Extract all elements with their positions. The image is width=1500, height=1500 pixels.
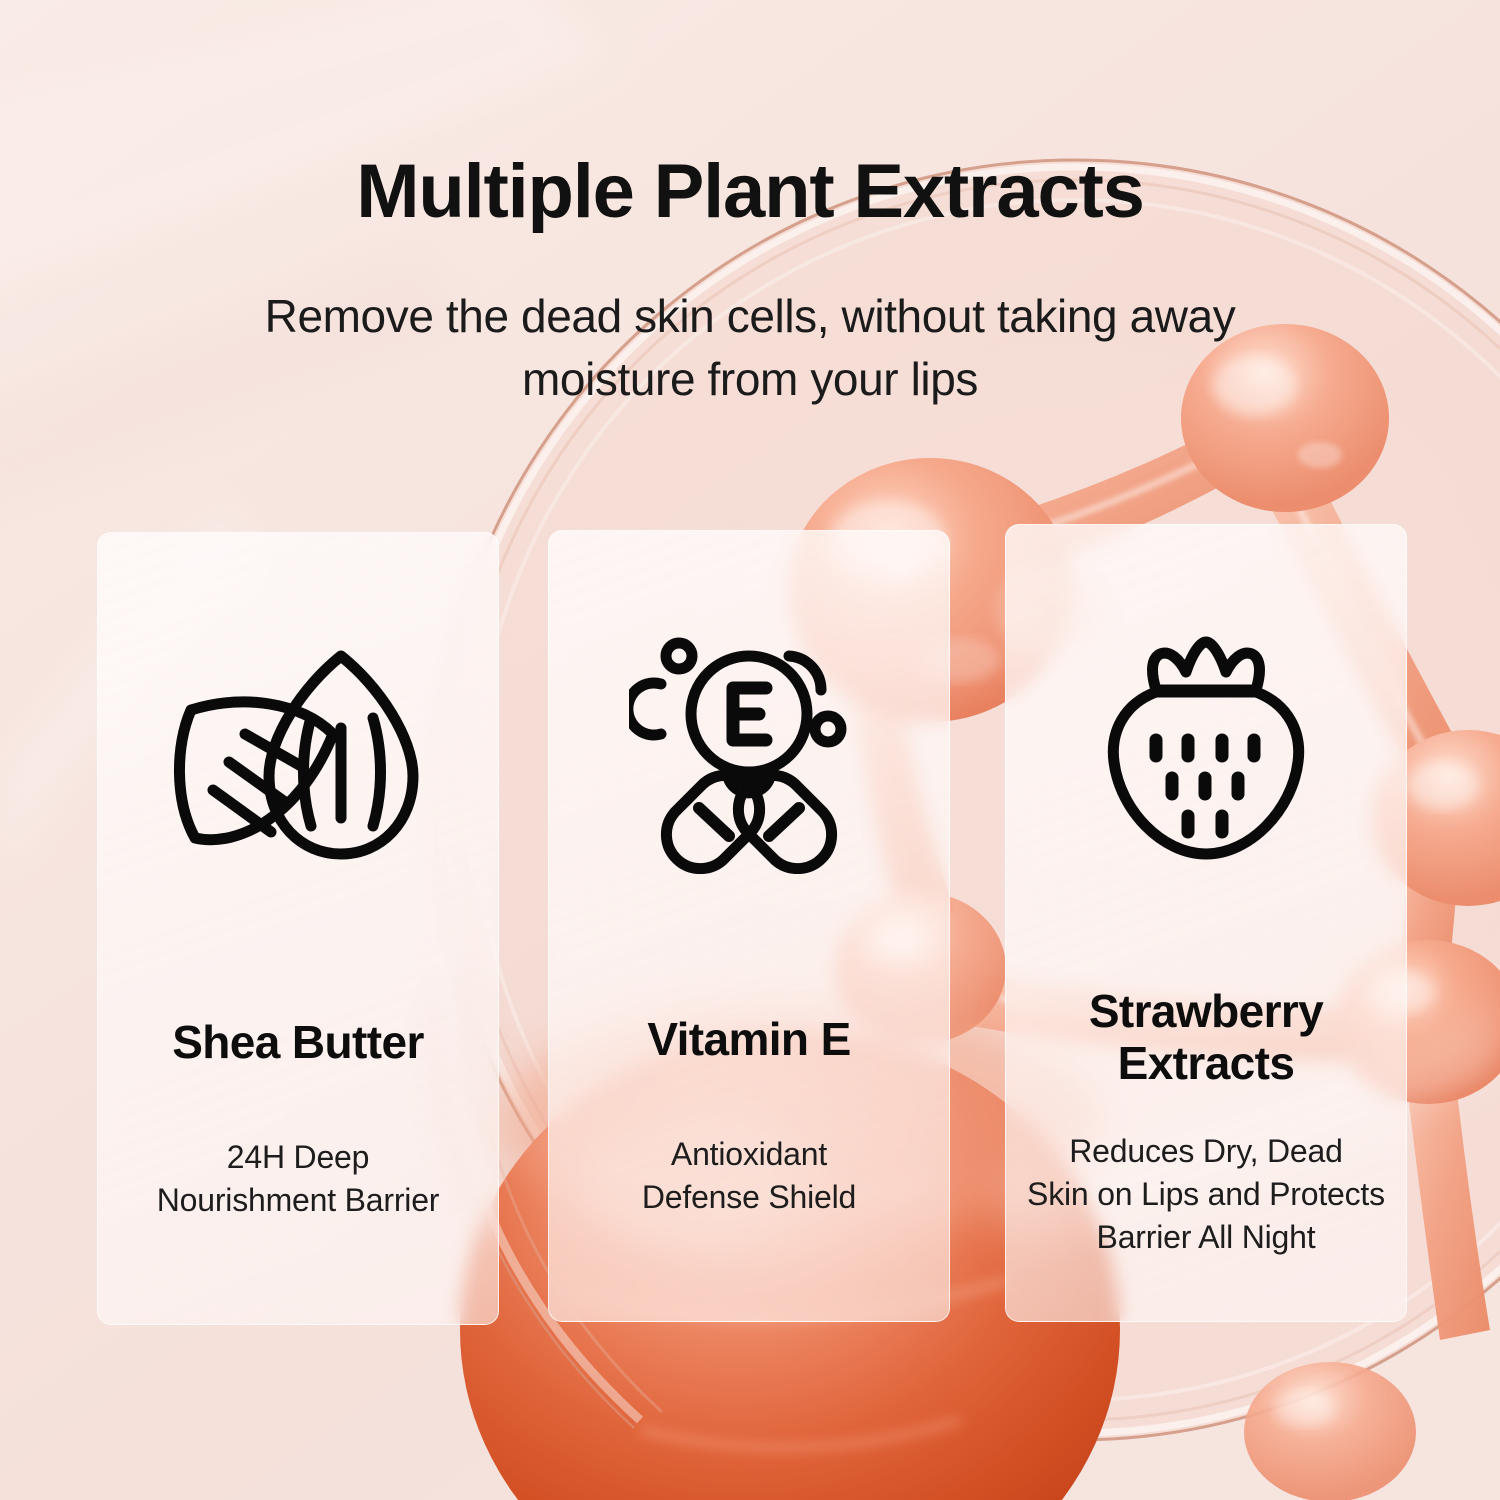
subtitle-line-1: Remove the dead skin cells, without taki… bbox=[130, 285, 1370, 348]
icon-container bbox=[549, 531, 949, 861]
card-desc-line-1: 24H Deep bbox=[98, 1136, 498, 1179]
ingredient-card-shea-butter[interactable]: Shea Butter 24H Deep Nourishment Barrier bbox=[97, 532, 499, 1325]
card-title-line-1: Strawberry bbox=[1089, 985, 1323, 1037]
icon-container bbox=[1006, 525, 1406, 855]
card-desc-line-1: Antioxidant bbox=[549, 1133, 949, 1176]
card-desc-line-2: Nourishment Barrier bbox=[98, 1179, 498, 1222]
icon-container bbox=[98, 533, 498, 863]
almond-icon bbox=[173, 642, 423, 872]
page-subtitle: Remove the dead skin cells, without taki… bbox=[130, 285, 1370, 410]
ingredient-card-vitamin-e[interactable]: Vitamin E Antioxidant Defense Shield bbox=[548, 530, 950, 1322]
card-description: Antioxidant Defense Shield bbox=[549, 1133, 949, 1219]
ingredient-card-strawberry-extracts[interactable]: Strawberry Extracts Reduces Dry, Dead Sk… bbox=[1005, 524, 1407, 1322]
card-title-line-2: Extracts bbox=[1118, 1037, 1295, 1089]
vitamin-e-icon bbox=[629, 636, 869, 874]
card-title: Strawberry Extracts bbox=[1006, 985, 1406, 1090]
strawberry-icon bbox=[1100, 632, 1312, 868]
card-description: 24H Deep Nourishment Barrier bbox=[98, 1136, 498, 1222]
card-title: Shea Butter bbox=[98, 1016, 498, 1068]
card-title-line-1: Vitamin E bbox=[647, 1013, 850, 1065]
card-title-line-1: Shea Butter bbox=[172, 1016, 424, 1068]
card-desc-line-1: Reduces Dry, Dead bbox=[1006, 1130, 1406, 1173]
card-description: Reduces Dry, Dead Skin on Lips and Prote… bbox=[1006, 1130, 1406, 1259]
card-title: Vitamin E bbox=[549, 1013, 949, 1065]
page-title: Multiple Plant Extracts bbox=[0, 148, 1500, 235]
card-desc-line-2: Skin on Lips and Protects bbox=[1006, 1173, 1406, 1216]
subtitle-line-2: moisture from your lips bbox=[130, 348, 1370, 411]
card-desc-line-2: Defense Shield bbox=[549, 1176, 949, 1219]
card-desc-line-3: Barrier All Night bbox=[1006, 1216, 1406, 1259]
